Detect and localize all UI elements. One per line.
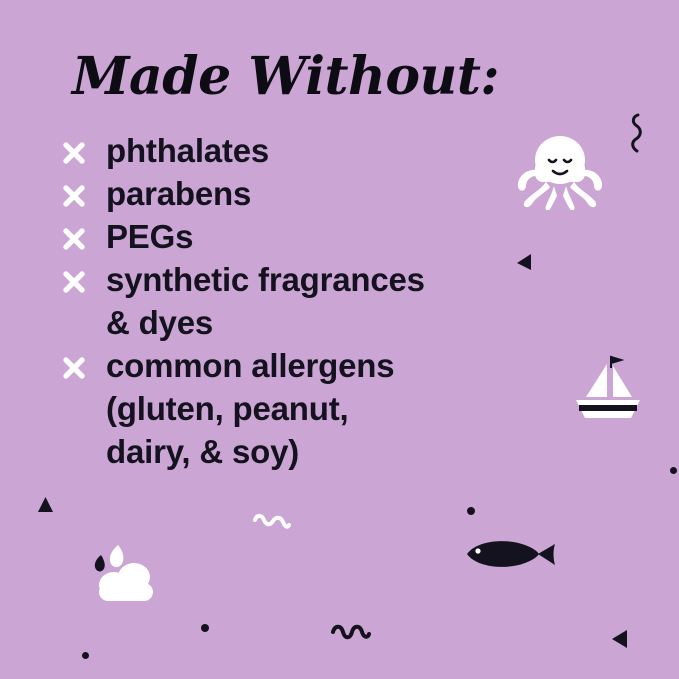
dot-decoration — [201, 624, 209, 632]
list-item-line: (gluten, peanut, — [106, 387, 394, 430]
octopus-icon — [512, 128, 608, 210]
page-title: Made Without: — [72, 51, 499, 103]
list-item-label: common allergens(gluten, peanut,dairy, &… — [106, 344, 394, 473]
triangle-up-icon — [37, 496, 54, 513]
triangle-left-lower-icon — [611, 629, 628, 649]
list-item: PEGs — [62, 215, 532, 258]
list-item-label: synthetic fragrances& dyes — [106, 258, 425, 344]
squiggle-horizontal-white-icon — [253, 512, 291, 532]
list-item: common allergens(gluten, peanut,dairy, &… — [62, 344, 532, 473]
list-item-line: phthalates — [106, 129, 269, 172]
list-item-line: common allergens — [106, 344, 394, 387]
cloud-splash-icon — [92, 543, 160, 605]
made-without-list: phthalatesparabensPEGssynthetic fragranc… — [62, 129, 532, 473]
fish-icon — [463, 535, 557, 573]
dot-decoration — [467, 507, 475, 515]
triangle-left-icon — [516, 253, 532, 271]
list-item-line: PEGs — [106, 215, 193, 258]
list-item-line: & dyes — [106, 301, 425, 344]
list-item-label: parabens — [106, 172, 251, 215]
squiggle-vertical-icon — [628, 112, 644, 154]
squiggle-horizontal-dark-icon — [331, 622, 371, 642]
x-mark-icon — [62, 270, 86, 294]
list-item-label: PEGs — [106, 215, 193, 258]
list-item-line: synthetic fragrances — [106, 258, 425, 301]
dot-decoration — [670, 467, 677, 474]
dot-decoration — [82, 652, 89, 659]
list-item-line: dairy, & soy) — [106, 430, 394, 473]
promo-card: Made Without: phthalatesparabensPEGssynt… — [0, 0, 679, 679]
x-mark-icon — [62, 184, 86, 208]
list-item-line: parabens — [106, 172, 251, 215]
list-item: phthalates — [62, 129, 532, 172]
list-item-label: phthalates — [106, 129, 269, 172]
x-mark-icon — [62, 356, 86, 380]
x-mark-icon — [62, 141, 86, 165]
sailboat-icon — [570, 352, 646, 422]
x-mark-icon — [62, 227, 86, 251]
list-item: synthetic fragrances& dyes — [62, 258, 532, 344]
list-item: parabens — [62, 172, 532, 215]
